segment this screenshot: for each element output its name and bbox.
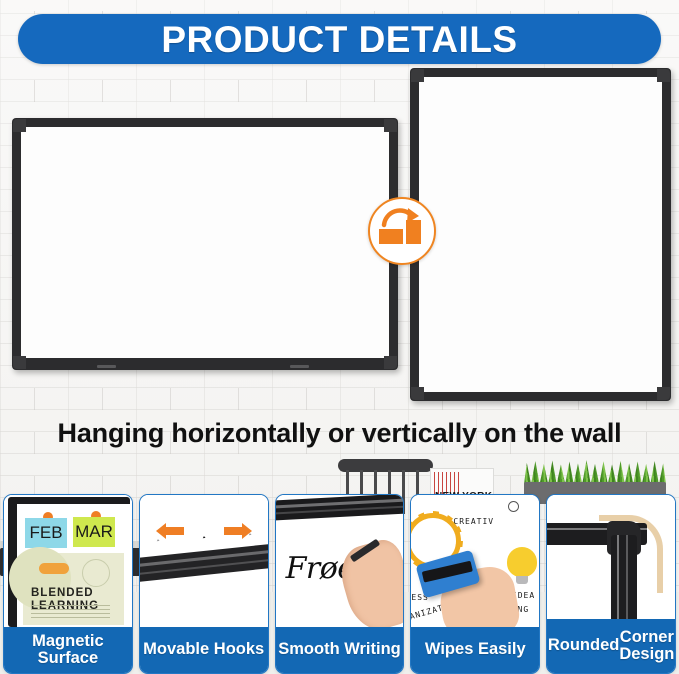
label-line-1: Rounded — [548, 637, 620, 654]
blended-learning-poster: BLENDED LEARNING — [23, 553, 124, 625]
frame-groove — [617, 535, 619, 619]
feature-panel-magnetic-surface[interactable]: FEB MAR BLENDED LEARNING — [3, 494, 133, 674]
eraser-felt — [422, 561, 473, 583]
panel-board-surface: FEB MAR BLENDED LEARNING — [17, 504, 130, 627]
frame-corner — [411, 69, 424, 82]
feature-panels: FEB MAR BLENDED LEARNING — [0, 494, 679, 674]
eraser-icon: CREATIV IDEA LOPING ESS ANIZATI — [411, 495, 539, 627]
poster-logo-tag — [39, 563, 69, 574]
marker-writing-icon: Frøend — [276, 495, 404, 627]
marker-tray-clip — [290, 365, 309, 368]
poster-body-lines — [31, 605, 110, 621]
feature-panel-movable-hooks[interactable]: Movable Hooks — [139, 494, 269, 674]
frame-corner-closeup — [547, 509, 675, 619]
arrow-left-icon — [156, 523, 186, 539]
frame-corner — [13, 119, 26, 132]
arrow-right-icon — [222, 523, 252, 539]
panel-board-frame: FEB MAR BLENDED LEARNING — [8, 497, 130, 627]
frame-vertical-arm — [611, 535, 637, 619]
sticky-note-mar: MAR — [73, 517, 115, 547]
frame-corner — [657, 387, 670, 400]
sticky-note-feb: FEB — [25, 518, 67, 548]
infographic-stage: NEW YORK PRODUCT DETAILS Hanging hori — [0, 0, 679, 674]
frame-rail — [276, 495, 404, 521]
sketch-dot — [508, 501, 519, 512]
feature-label-movable-hooks: Movable Hooks — [140, 627, 268, 673]
frame-corner — [384, 356, 397, 369]
feature-label-rounded-corner: Rounded Corner Design — [547, 619, 675, 673]
header-banner: PRODUCT DETAILS — [18, 14, 661, 64]
feature-label-magnetic-surface: Magnetic Surface — [4, 627, 132, 673]
globe-icon — [82, 559, 110, 587]
vertical-whiteboard — [410, 68, 671, 401]
frame-corner — [384, 119, 397, 132]
poster-heading-line1: BLENDED — [31, 587, 94, 599]
feature-panel-rounded-corner[interactable]: Rounded Corner Design — [546, 494, 676, 674]
rounded-corner-icon — [547, 495, 675, 619]
marker-tray-clip — [97, 365, 116, 368]
magnet-board-icon: FEB MAR BLENDED LEARNING — [4, 495, 132, 627]
sliding-hooks-icon — [140, 495, 268, 627]
hero-tagline: Hanging horizontally or vertically on th… — [0, 418, 679, 449]
frame-groove — [626, 535, 628, 619]
frame-corner — [657, 69, 670, 82]
page-title: PRODUCT DETAILS — [161, 21, 517, 58]
whiteboard-surface — [419, 77, 662, 392]
feature-panel-wipes-easily[interactable]: CREATIV IDEA LOPING ESS ANIZATI Wipes Ea… — [410, 494, 540, 674]
feature-label-smooth-writing: Smooth Writing — [276, 627, 404, 673]
sketch-word: CREATIV — [453, 517, 494, 526]
lightbulb-icon — [507, 547, 537, 577]
frame-corner — [411, 387, 424, 400]
frame-corner — [13, 356, 26, 369]
horizontal-whiteboard — [12, 118, 398, 370]
rotate-orientation-icon — [368, 197, 436, 265]
whiteboard-surface — [21, 127, 389, 358]
label-line-2: Corner Design — [619, 629, 674, 664]
feature-label-wipes-easily: Wipes Easily — [411, 627, 539, 673]
feature-panel-smooth-writing[interactable]: Frøend Smooth Writing — [275, 494, 405, 674]
